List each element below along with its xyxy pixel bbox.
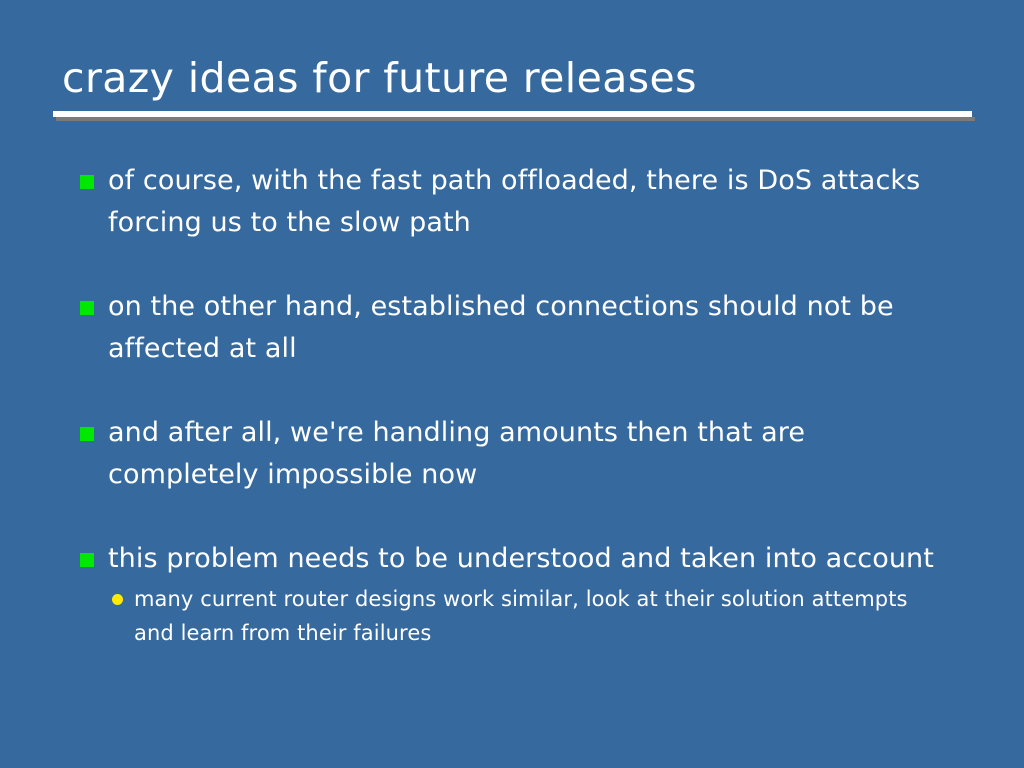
presentation-slide: crazy ideas for future releases of cours… bbox=[0, 0, 1024, 768]
bullet-text: of course, with the fast path offloaded,… bbox=[108, 160, 950, 244]
green-square-bullet-icon bbox=[80, 175, 94, 189]
title-underline-rule-shadow bbox=[56, 117, 975, 121]
slide-body: of course, with the fast path offloaded,… bbox=[0, 160, 1024, 650]
list-item: this problem needs to be understood and … bbox=[0, 538, 1024, 650]
page-title: crazy ideas for future releases bbox=[62, 52, 982, 104]
bullet-text: this problem needs to be understood and … bbox=[108, 538, 950, 580]
green-square-bullet-icon bbox=[80, 553, 94, 567]
list-item: on the other hand, established connectio… bbox=[0, 286, 1024, 370]
bullet-text: and after all, we're handling amounts th… bbox=[108, 412, 950, 496]
sub-list-item: many current router designs work similar… bbox=[108, 582, 1024, 650]
yellow-dot-bullet-icon bbox=[112, 594, 123, 605]
green-square-bullet-icon bbox=[80, 427, 94, 441]
green-square-bullet-icon bbox=[80, 301, 94, 315]
list-item: of course, with the fast path offloaded,… bbox=[0, 160, 1024, 244]
bullet-text: on the other hand, established connectio… bbox=[108, 286, 950, 370]
sub-bullet-text: many current router designs work similar… bbox=[134, 582, 934, 650]
list-item: and after all, we're handling amounts th… bbox=[0, 412, 1024, 496]
sub-list: many current router designs work similar… bbox=[108, 582, 1024, 650]
